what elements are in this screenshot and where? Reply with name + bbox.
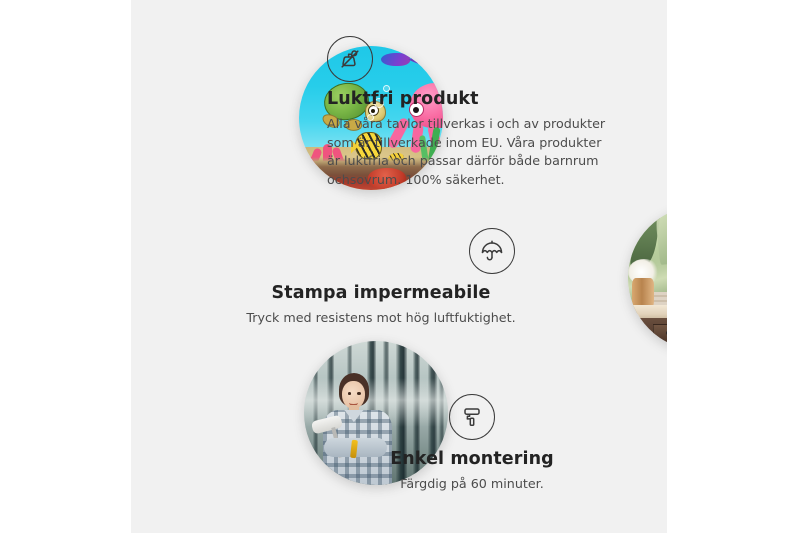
feature-waterproof: Stampa impermeabile Tryck med resistens … (211, 228, 551, 328)
screenshot-root: Luktfri produkt Alla våra tavlor tillver… (0, 0, 800, 533)
feature-description: Färgdig på 60 minuter. (327, 475, 617, 494)
feature-description: Tryck med resistens mot hög luftfuktighe… (211, 309, 551, 328)
feature-title: Stampa impermeabile (211, 283, 551, 304)
umbrella-icon (469, 228, 515, 274)
bathroom-artwork (628, 206, 667, 350)
feature-title: Luktfri produkt (327, 89, 617, 110)
wooden-vanity (640, 318, 667, 350)
no-perfume-icon (327, 36, 373, 82)
drawer-handle (666, 331, 667, 335)
bathroom-wallpaper-photo[interactable] (628, 206, 667, 350)
feature-title: Enkel montering (327, 449, 617, 470)
feature-easy-mounting: Enkel montering Färgdig på 60 minuter. (327, 394, 617, 494)
vanity-drawer (653, 324, 667, 343)
feature-odorless: Luktfri produkt Alla våra tavlor tillver… (327, 36, 617, 190)
paint-roller-icon (449, 394, 495, 440)
feature-panel: Luktfri produkt Alla våra tavlor tillver… (131, 0, 667, 533)
feature-description: Alla våra tavlor tillverkas i och av pro… (327, 115, 617, 190)
